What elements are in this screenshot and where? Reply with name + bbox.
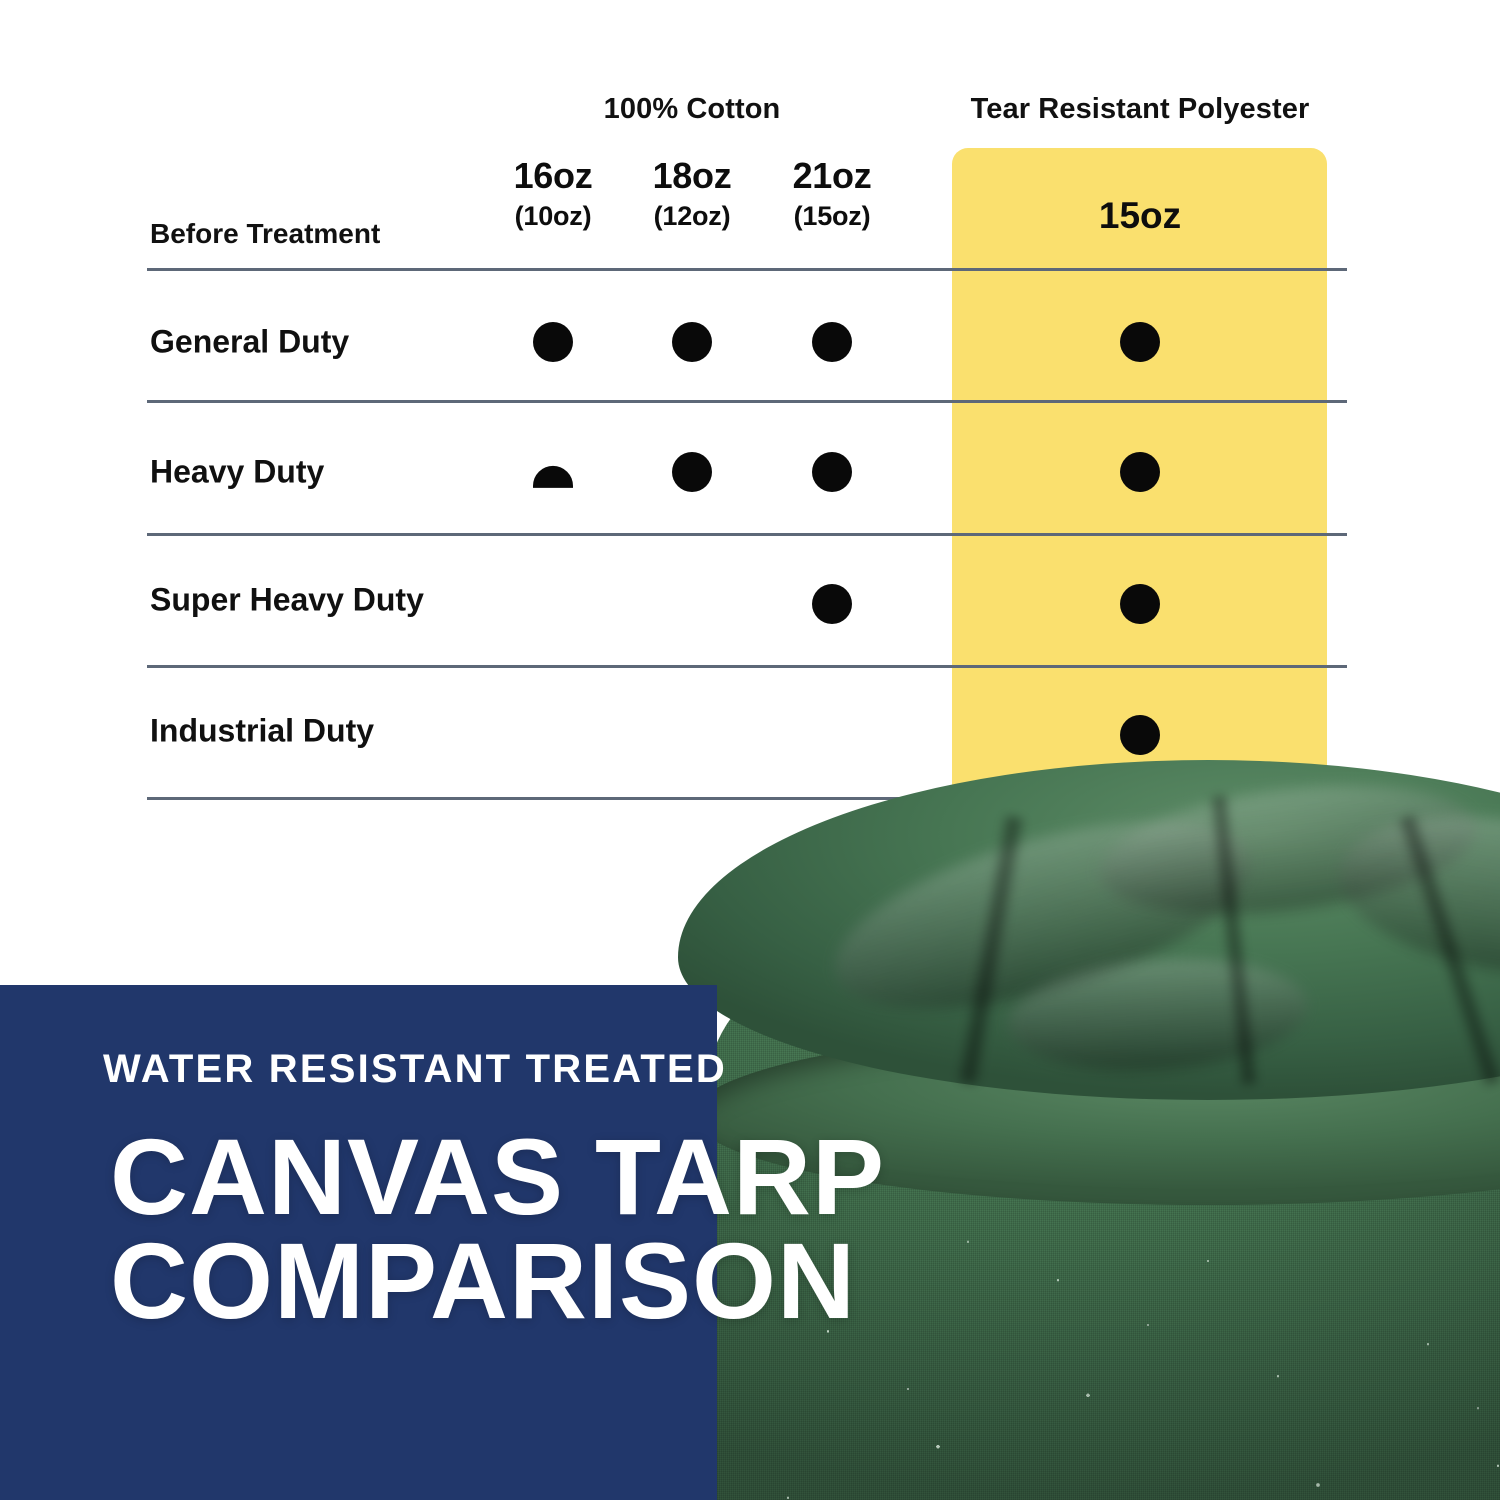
table-row-label-general-duty: General Duty bbox=[150, 324, 349, 361]
mark-super-heavy-duty-15oz bbox=[1120, 584, 1160, 624]
banner-title-line1: CANVAS TARP bbox=[110, 1125, 885, 1229]
column-subweight-16oz: (10oz) bbox=[514, 197, 593, 235]
column-subweight-18oz: (12oz) bbox=[653, 197, 732, 235]
table-rule-3 bbox=[147, 665, 1347, 668]
column-weight-16oz: 16oz bbox=[514, 155, 593, 197]
table-rule-2 bbox=[147, 533, 1347, 536]
table-row-label-heavy-duty: Heavy Duty bbox=[150, 454, 324, 491]
row-header-label: Before Treatment bbox=[150, 218, 380, 250]
column-header-21oz: 21oz (15oz) bbox=[793, 155, 872, 235]
mark-general-duty-16oz bbox=[533, 322, 573, 362]
column-header-15oz: 15oz bbox=[1099, 195, 1181, 237]
group-header-cotton: 100% Cotton bbox=[604, 93, 781, 126]
group-header-polyester: Tear Resistant Polyester bbox=[971, 93, 1310, 126]
table-row-label-super-heavy-duty: Super Heavy Duty bbox=[150, 582, 424, 619]
table-row-label-industrial-duty: Industrial Duty bbox=[150, 713, 374, 750]
column-subweight-21oz: (15oz) bbox=[793, 197, 872, 235]
mark-general-duty-18oz bbox=[672, 322, 712, 362]
tarp-roll-top bbox=[678, 760, 1500, 1100]
mark-heavy-duty-21oz bbox=[812, 452, 852, 492]
column-header-18oz: 18oz (12oz) bbox=[653, 155, 732, 235]
column-header-16oz: 16oz (10oz) bbox=[514, 155, 593, 235]
mark-general-duty-21oz bbox=[812, 322, 852, 362]
banner-title-line2: COMPARISON bbox=[110, 1229, 885, 1333]
mark-heavy-duty-15oz bbox=[1120, 452, 1160, 492]
table-rule-1 bbox=[147, 400, 1347, 403]
banner-eyebrow-text: WATER RESISTANT TREATED bbox=[103, 1047, 727, 1092]
mark-heavy-duty-18oz bbox=[672, 452, 712, 492]
column-weight-21oz: 21oz bbox=[793, 155, 872, 197]
column-weight-18oz: 18oz bbox=[653, 155, 732, 197]
banner-title: CANVAS TARP COMPARISON bbox=[110, 1125, 885, 1333]
table-rule-top bbox=[147, 268, 1347, 271]
comparison-table: 100% Cotton Tear Resistant Polyester 16o… bbox=[0, 0, 1500, 860]
mark-super-heavy-duty-21oz bbox=[812, 584, 852, 624]
mark-general-duty-15oz bbox=[1120, 322, 1160, 362]
mark-heavy-duty-16oz-partial bbox=[533, 466, 573, 488]
